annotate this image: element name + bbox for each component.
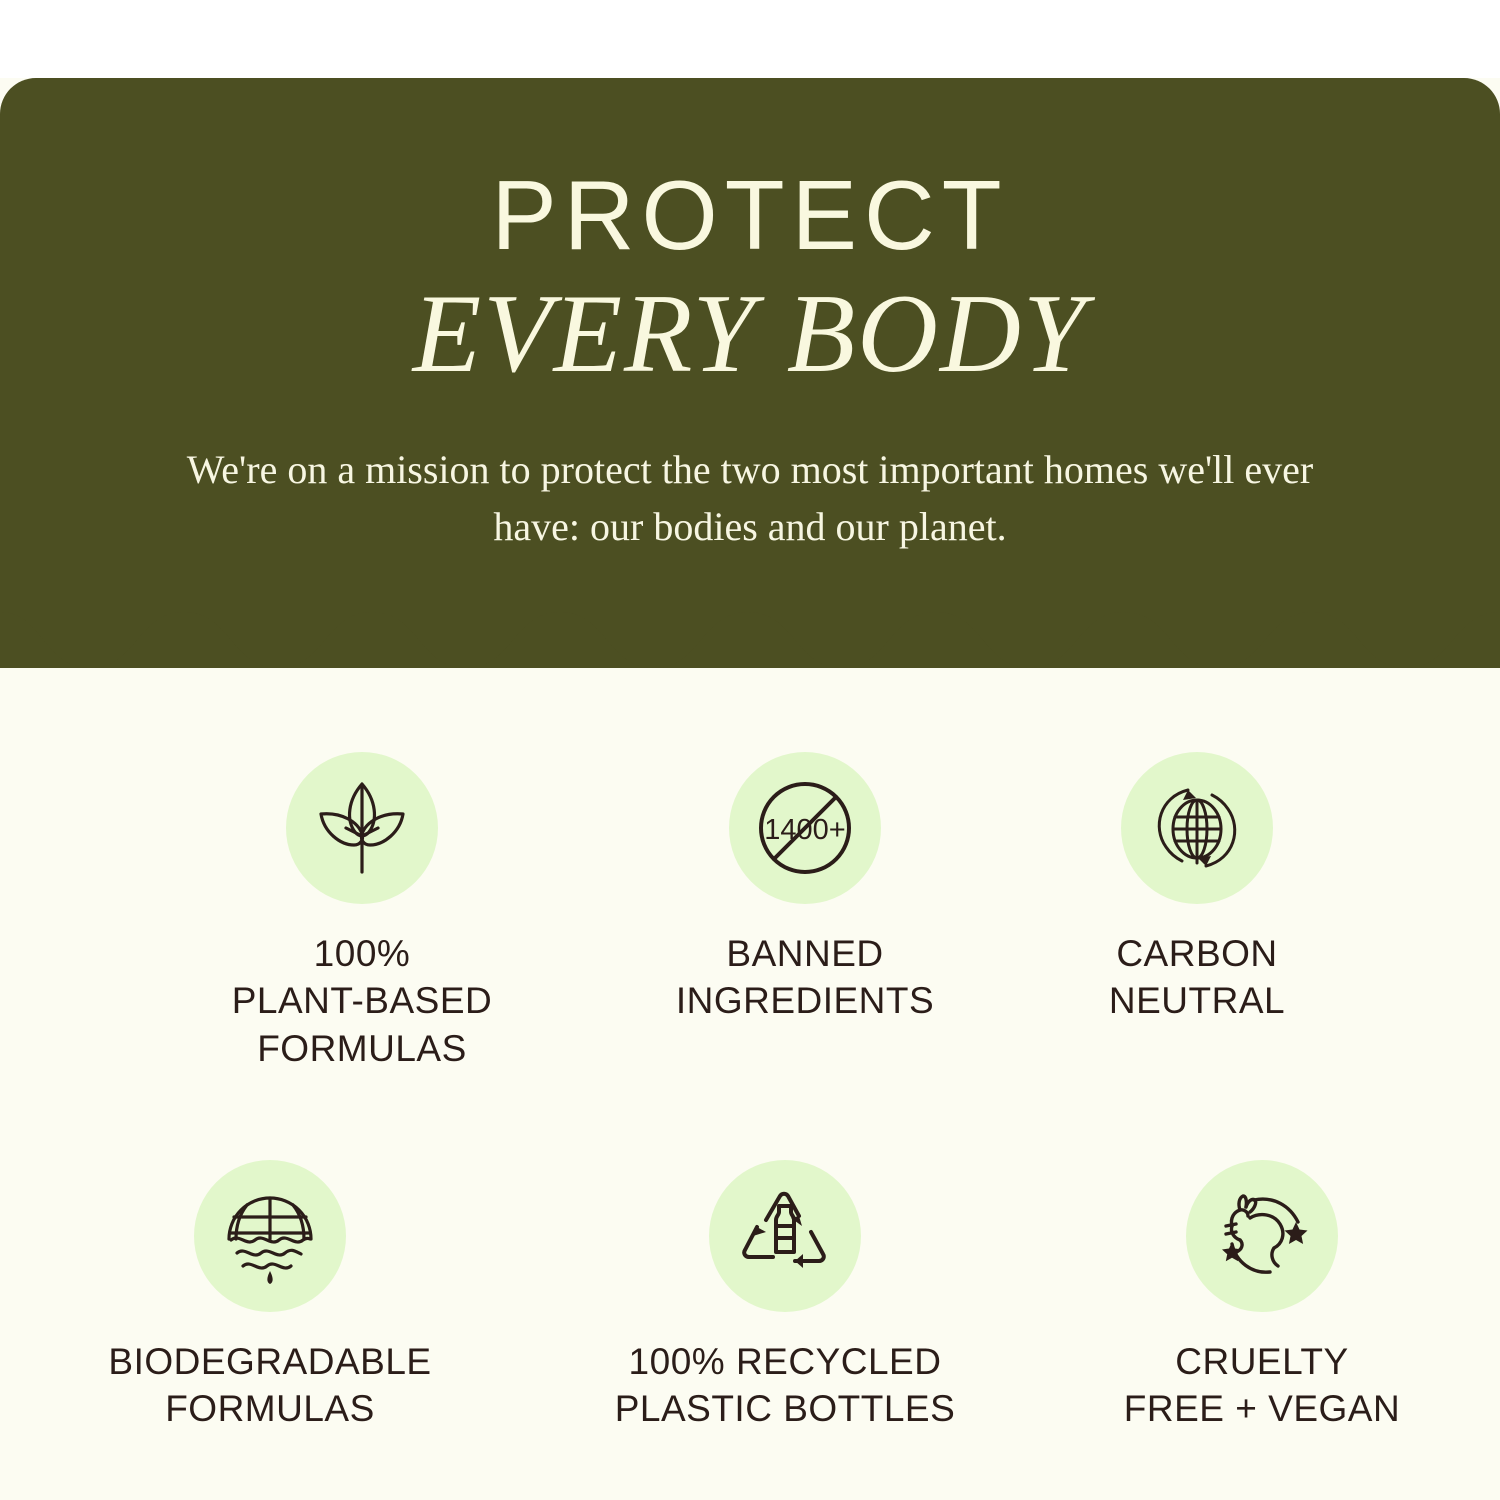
mission-statement: We're on a mission to protect the two mo…: [170, 442, 1330, 556]
header-content: PROTECT EVERY BODY We're on a mission to…: [0, 78, 1500, 618]
plant-leaf-icon: [310, 776, 414, 880]
badge-label: CARBON NEUTRAL: [1109, 930, 1285, 1025]
banned-ingredients-icon: 1400+: [752, 775, 858, 881]
recycled-bottle-icon: [733, 1184, 837, 1288]
page-subtitle-script: EVERY BODY: [413, 278, 1087, 390]
page-title: PROTECT: [491, 166, 1008, 264]
top-margin: [0, 0, 1500, 78]
infographic-poster: PROTECT EVERY BODY We're on a mission to…: [0, 0, 1500, 1500]
header-panel: PROTECT EVERY BODY We're on a mission to…: [0, 78, 1500, 668]
badge-icon-circle: 1400+: [729, 752, 881, 904]
biodegradable-globe-water-icon: [217, 1183, 323, 1289]
badge-icon-circle: [1186, 1160, 1338, 1312]
badge-icon-circle: [1121, 752, 1273, 904]
badge-recycled-bottles: 100% RECYCLED PLASTIC BOTTLES: [570, 1160, 1000, 1433]
badge-cruelty-free: CRUELTY FREE + VEGAN: [1047, 1160, 1477, 1433]
badges-grid: 100% PLANT-BASED FORMULAS 1400+ BANNED I…: [0, 700, 1500, 1500]
badge-plant-based: 100% PLANT-BASED FORMULAS: [147, 752, 577, 1072]
badge-label: 100% RECYCLED PLASTIC BOTTLES: [615, 1338, 956, 1433]
badge-icon-circle: [709, 1160, 861, 1312]
badge-label: BANNED INGREDIENTS: [676, 930, 934, 1025]
badge-label: CRUELTY FREE + VEGAN: [1124, 1338, 1400, 1433]
badge-biodegradable: BIODEGRADABLE FORMULAS: [55, 1160, 485, 1433]
wavy-divider: [0, 590, 1500, 680]
banned-count-text: 1400+: [764, 814, 845, 846]
badge-carbon-neutral: CARBON NEUTRAL: [982, 752, 1412, 1025]
badge-icon-circle: [194, 1160, 346, 1312]
badge-label: BIODEGRADABLE FORMULAS: [108, 1338, 431, 1433]
carbon-neutral-globe-icon: [1144, 775, 1250, 881]
badge-icon-circle: [286, 752, 438, 904]
badge-banned-ingredients: 1400+ BANNED INGREDIENTS: [590, 752, 1020, 1025]
leaping-bunny-icon: [1208, 1182, 1316, 1290]
badge-label: 100% PLANT-BASED FORMULAS: [232, 930, 492, 1072]
